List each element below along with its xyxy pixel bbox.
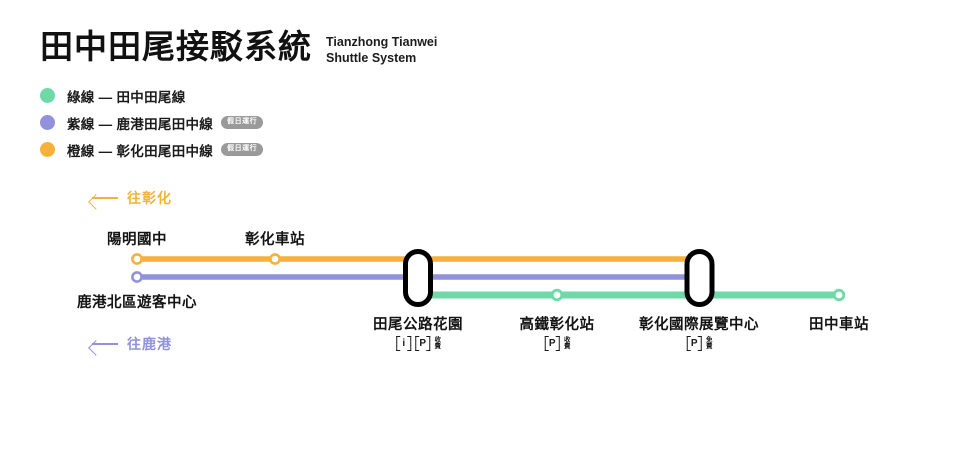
legend-color-dot-green-icon: [40, 88, 55, 103]
station-label-yangming-junior-high: 陽明國中: [107, 228, 167, 249]
legend-color-dot-orange-icon: [40, 142, 55, 157]
legend-item-label: 紫線 — 鹿港田尾田中線: [67, 113, 213, 133]
page-header: 田中田尾接駁系統 Tianzhong Tianwei Shuttle Syste…: [40, 26, 437, 68]
station-label-tianwei-highway-garden: 田尾公路花園: [373, 313, 463, 334]
parking-icon: P: [687, 336, 702, 351]
amenity-info: i: [396, 336, 411, 351]
station-marker-tianzhong-station[interactable]: [834, 290, 844, 300]
amenity-parking: P 免費: [687, 336, 712, 351]
direction-label-text: 往鹿港: [127, 334, 172, 354]
arrow-left-icon: [92, 191, 118, 205]
amenity-note: 免費: [704, 336, 712, 349]
interchange-marker-changhua-expo-center[interactable]: [687, 252, 712, 305]
station-marker-lukang-north-visitor-center[interactable]: [132, 272, 141, 281]
station-label-changhua-expo-center: 彰化國際展覽中心: [639, 313, 759, 334]
station-marker-thsr-changhua[interactable]: [552, 290, 562, 300]
interchange-marker-tianwei-highway-garden[interactable]: [406, 252, 431, 305]
parking-icon: P: [415, 336, 430, 351]
station-amenities-tianwei-highway-garden: i P 收費: [396, 336, 440, 351]
station-amenities-changhua-expo-center: P 免費: [687, 336, 712, 351]
legend-item-orange-line[interactable]: 橙線 — 彰化田尾田中線 假日運行: [40, 136, 263, 163]
station-label-tianzhong-station: 田中車站: [809, 313, 869, 334]
station-label-changhua-station: 彰化車站: [245, 228, 305, 249]
amenity-note: 收費: [562, 336, 570, 349]
legend-holiday-badge: 假日運行: [221, 116, 263, 130]
page-subtitle: Tianzhong Tianwei Shuttle System: [326, 34, 437, 66]
station-marker-yangming-junior-high[interactable]: [132, 254, 141, 263]
page-title: 田中田尾接駁系統: [40, 26, 312, 68]
station-label-lukang-north-visitor-center: 鹿港北區遊客中心: [77, 291, 197, 312]
legend-color-dot-purple-icon: [40, 115, 55, 130]
amenity-note: 收費: [432, 336, 440, 349]
page-subtitle-line2: Shuttle System: [326, 50, 437, 66]
direction-label-lukang: 往鹿港: [92, 334, 172, 354]
arrow-left-icon: [92, 337, 118, 351]
legend-item-label: 橙線 — 彰化田尾田中線: [67, 140, 213, 160]
amenity-parking: P 收費: [415, 336, 440, 351]
page-subtitle-line1: Tianzhong Tianwei: [326, 34, 437, 50]
legend-item-green-line[interactable]: 綠線 — 田中田尾線: [40, 82, 263, 109]
station-label-thsr-changhua: 高鐵彰化站: [520, 313, 595, 334]
information-icon: i: [396, 336, 411, 351]
amenity-parking: P 收費: [545, 336, 570, 351]
station-amenities-thsr-changhua: P 收費: [545, 336, 570, 351]
direction-label-changhua: 往彰化: [92, 188, 172, 208]
legend-item-purple-line[interactable]: 紫線 — 鹿港田尾田中線 假日運行: [40, 109, 263, 136]
station-marker-changhua-station[interactable]: [270, 254, 279, 263]
direction-label-text: 往彰化: [127, 188, 172, 208]
legend-item-label: 綠線 — 田中田尾線: [67, 86, 186, 106]
legend-holiday-badge: 假日運行: [221, 143, 263, 157]
parking-icon: P: [545, 336, 560, 351]
legend: 綠線 — 田中田尾線 紫線 — 鹿港田尾田中線 假日運行 橙線 — 彰化田尾田中…: [40, 82, 263, 163]
